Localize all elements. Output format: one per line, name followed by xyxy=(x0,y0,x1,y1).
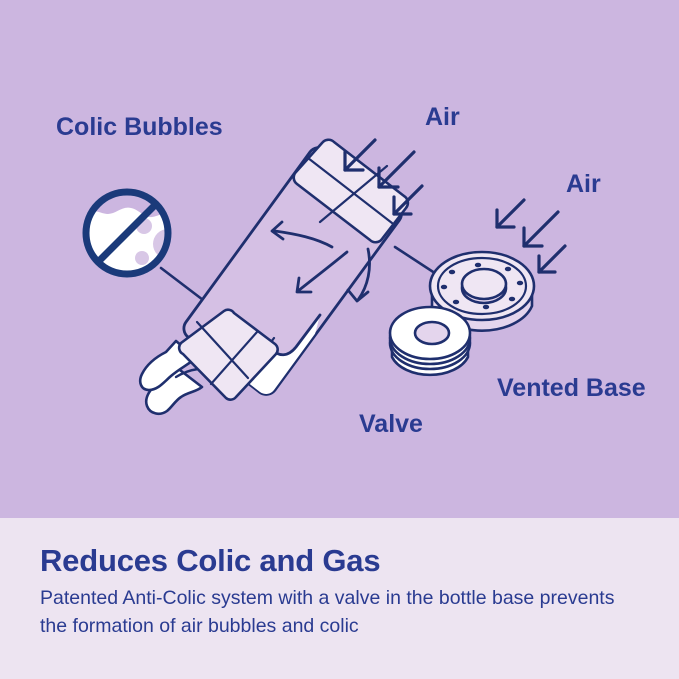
caption-panel: Reduces Colic and Gas Patented Anti-Coli… xyxy=(0,518,679,679)
anti-colic-diagram-svg: Colic Bubbles Air Air Valve Vented Base xyxy=(0,0,679,518)
caption-heading: Reduces Colic and Gas xyxy=(40,544,641,578)
label-vented-base: Vented Base xyxy=(497,374,646,402)
valve-ring-icon xyxy=(390,307,470,375)
label-air-top: Air xyxy=(425,103,460,131)
label-air-right: Air xyxy=(566,170,601,198)
product-feature-card: Colic Bubbles Air Air Valve Vented Base … xyxy=(0,0,679,679)
label-colic-bubbles: Colic Bubbles xyxy=(56,113,223,141)
illustration-panel: Colic Bubbles Air Air Valve Vented Base xyxy=(0,0,679,518)
caption-body: Patented Anti-Colic system with a valve … xyxy=(40,584,641,641)
bubble xyxy=(135,251,149,265)
label-valve: Valve xyxy=(359,410,423,438)
